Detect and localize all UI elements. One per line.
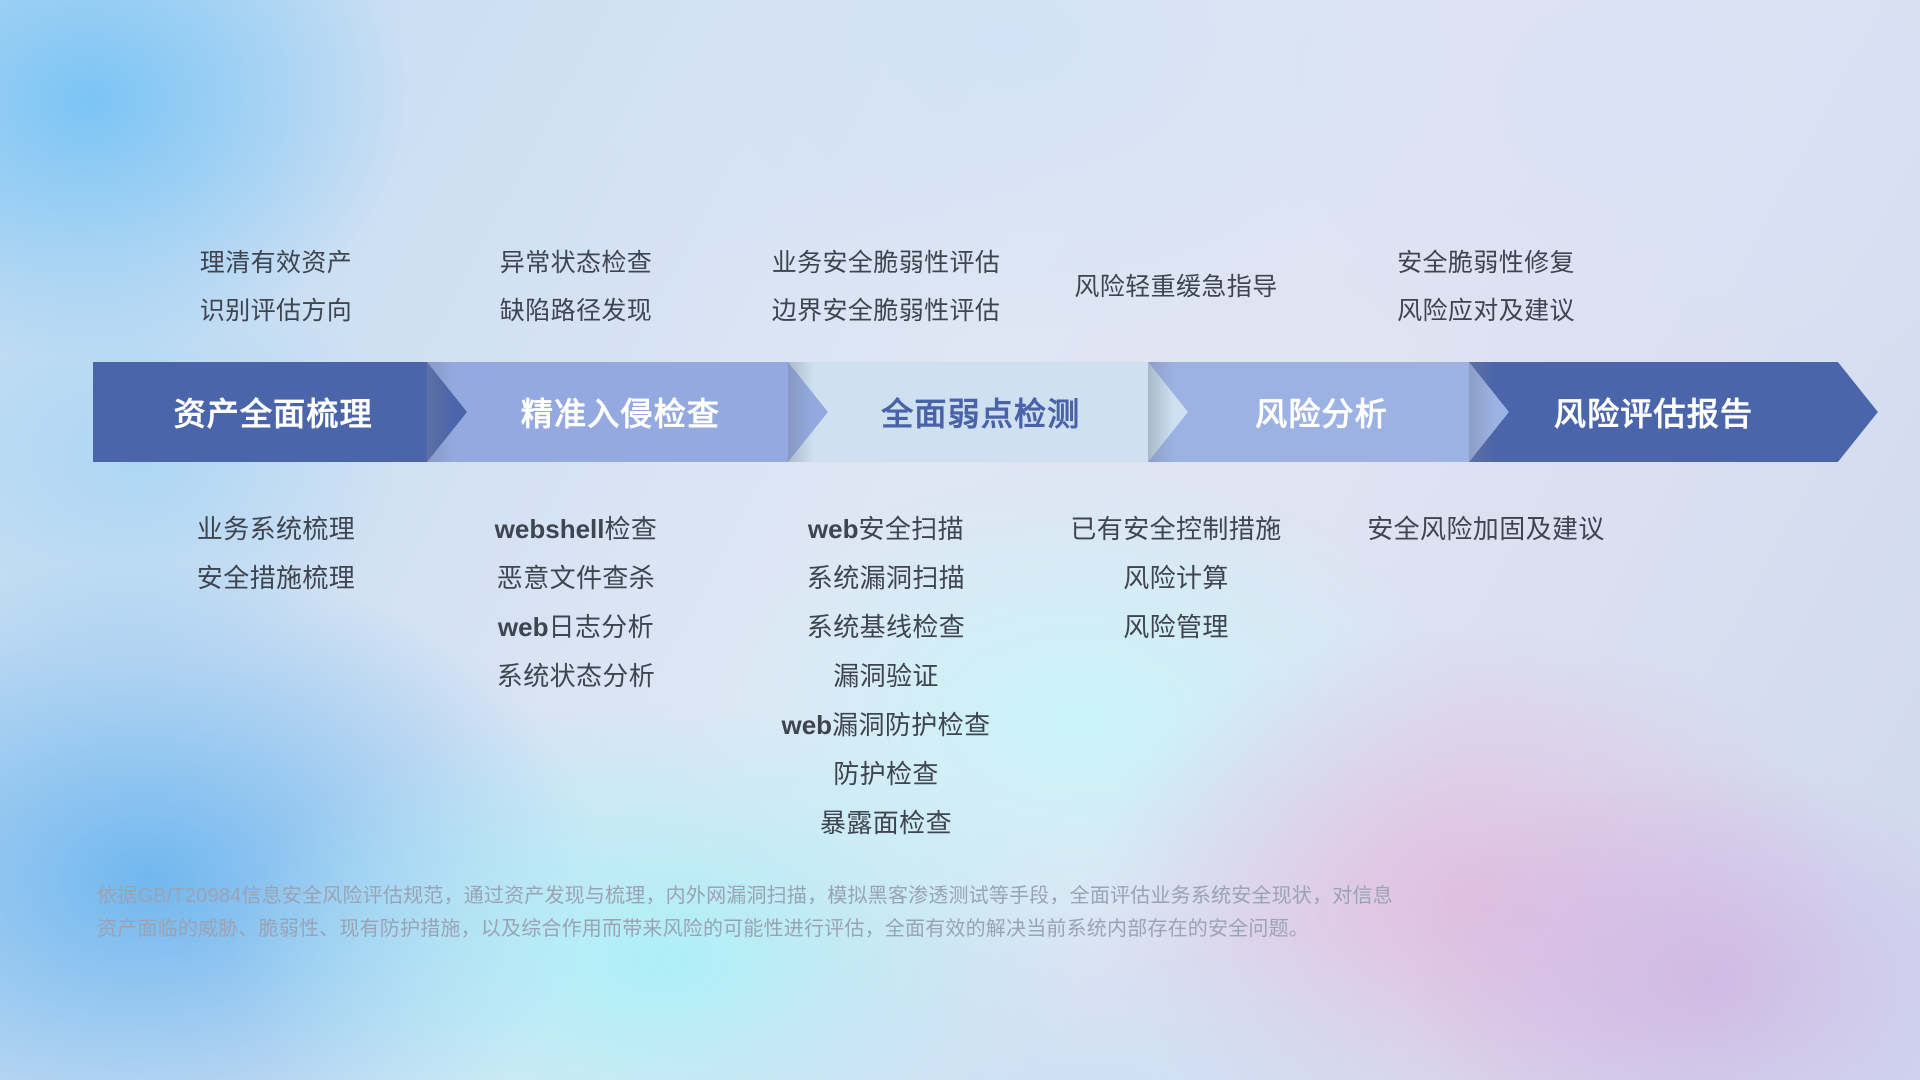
footer-line-2: 资产面临的威胁、脆弱性、现有防护措施，以及综合作用而带来风险的可能性进行评估，全… <box>97 913 1627 946</box>
stage-top-notes-row: 理清有效资产识别评估方向异常状态检查缺陷路径发现业务安全脆弱性评估边界安全脆弱性… <box>96 225 1856 335</box>
footer-line-1: 依据GB/T20984信息安全风险评估规范，通过资产发现与梳理，内外网漏洞扫描，… <box>97 880 1627 913</box>
detail-item[interactable]: 安全风险加固及建议 <box>1286 505 1686 554</box>
infographic-canvas: 理清有效资产识别评估方向异常状态检查缺陷路径发现业务安全脆弱性评估边界安全脆弱性… <box>0 0 1920 1080</box>
detail-item[interactable]: 风险计算 <box>976 554 1376 603</box>
detail-item[interactable]: 暴露面检查 <box>686 799 1086 848</box>
stage-title-asset-inventory: 资产全面梳理 <box>93 389 453 435</box>
detail-item[interactable]: 漏洞验证 <box>686 652 1086 701</box>
detail-item[interactable]: 风险管理 <box>976 603 1376 652</box>
stage-title-intrusion-check: 精准入侵检查 <box>427 389 813 435</box>
detail-item[interactable]: 防护检查 <box>686 750 1086 799</box>
stage-title-weakness-detection: 全面弱点检测 <box>788 389 1174 435</box>
detail-item[interactable]: web漏洞防护检查 <box>686 701 1086 750</box>
process-chevron-band: 资产全面梳理精准入侵检查全面弱点检测风险分析风险评估报告 <box>93 362 1838 462</box>
top-note: 风险应对及建议 <box>1286 287 1686 335</box>
stage-title-assessment-report: 风险评估报告 <box>1469 389 1838 435</box>
stage-title-risk-analysis: 风险分析 <box>1148 389 1495 435</box>
stage-top-notes-assessment-report: 安全脆弱性修复风险应对及建议 <box>1286 239 1686 335</box>
stage-detail-list-assessment-report: 安全风险加固及建议 <box>1286 505 1686 554</box>
process-stage-assessment-report[interactable]: 风险评估报告 <box>1469 362 1878 462</box>
top-note: 安全脆弱性修复 <box>1286 239 1686 287</box>
footer-description: 依据GB/T20984信息安全风险评估规范，通过资产发现与梳理，内外网漏洞扫描，… <box>97 880 1627 946</box>
